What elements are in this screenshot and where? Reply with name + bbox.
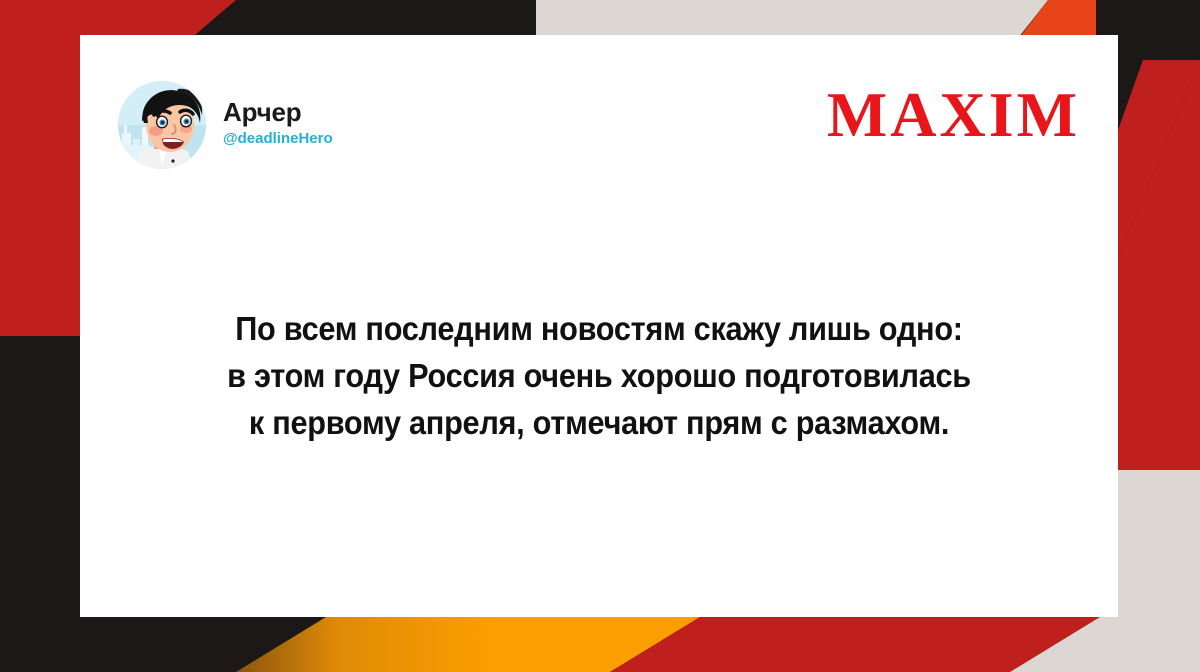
screenshot-root: Арчер @deadlineHero MAXIM По всем послед… bbox=[0, 0, 1200, 672]
quote-line-1: По всем последним новостям скажу лишь од… bbox=[154, 305, 1045, 352]
content-card: Арчер @deadlineHero MAXIM По всем послед… bbox=[80, 35, 1118, 617]
quote-line-2: в этом году Россия очень хорошо подготов… bbox=[154, 352, 1045, 399]
avatar bbox=[118, 81, 206, 169]
bg-shape-left-red-strip bbox=[0, 0, 80, 336]
display-name: Арчер bbox=[223, 98, 333, 128]
quote-line-3: к первому апреля, отмечают прям с размах… bbox=[154, 399, 1045, 446]
account-handle[interactable]: @deadlineHero bbox=[223, 130, 333, 148]
profile-block: Арчер @deadlineHero bbox=[118, 81, 333, 169]
quote-block: По всем последним новостям скажу лишь од… bbox=[80, 305, 1118, 446]
profile-text: Арчер @deadlineHero bbox=[223, 98, 333, 152]
maxim-logo: MAXIM bbox=[827, 83, 1080, 147]
card-header: Арчер @deadlineHero MAXIM bbox=[80, 35, 1118, 175]
